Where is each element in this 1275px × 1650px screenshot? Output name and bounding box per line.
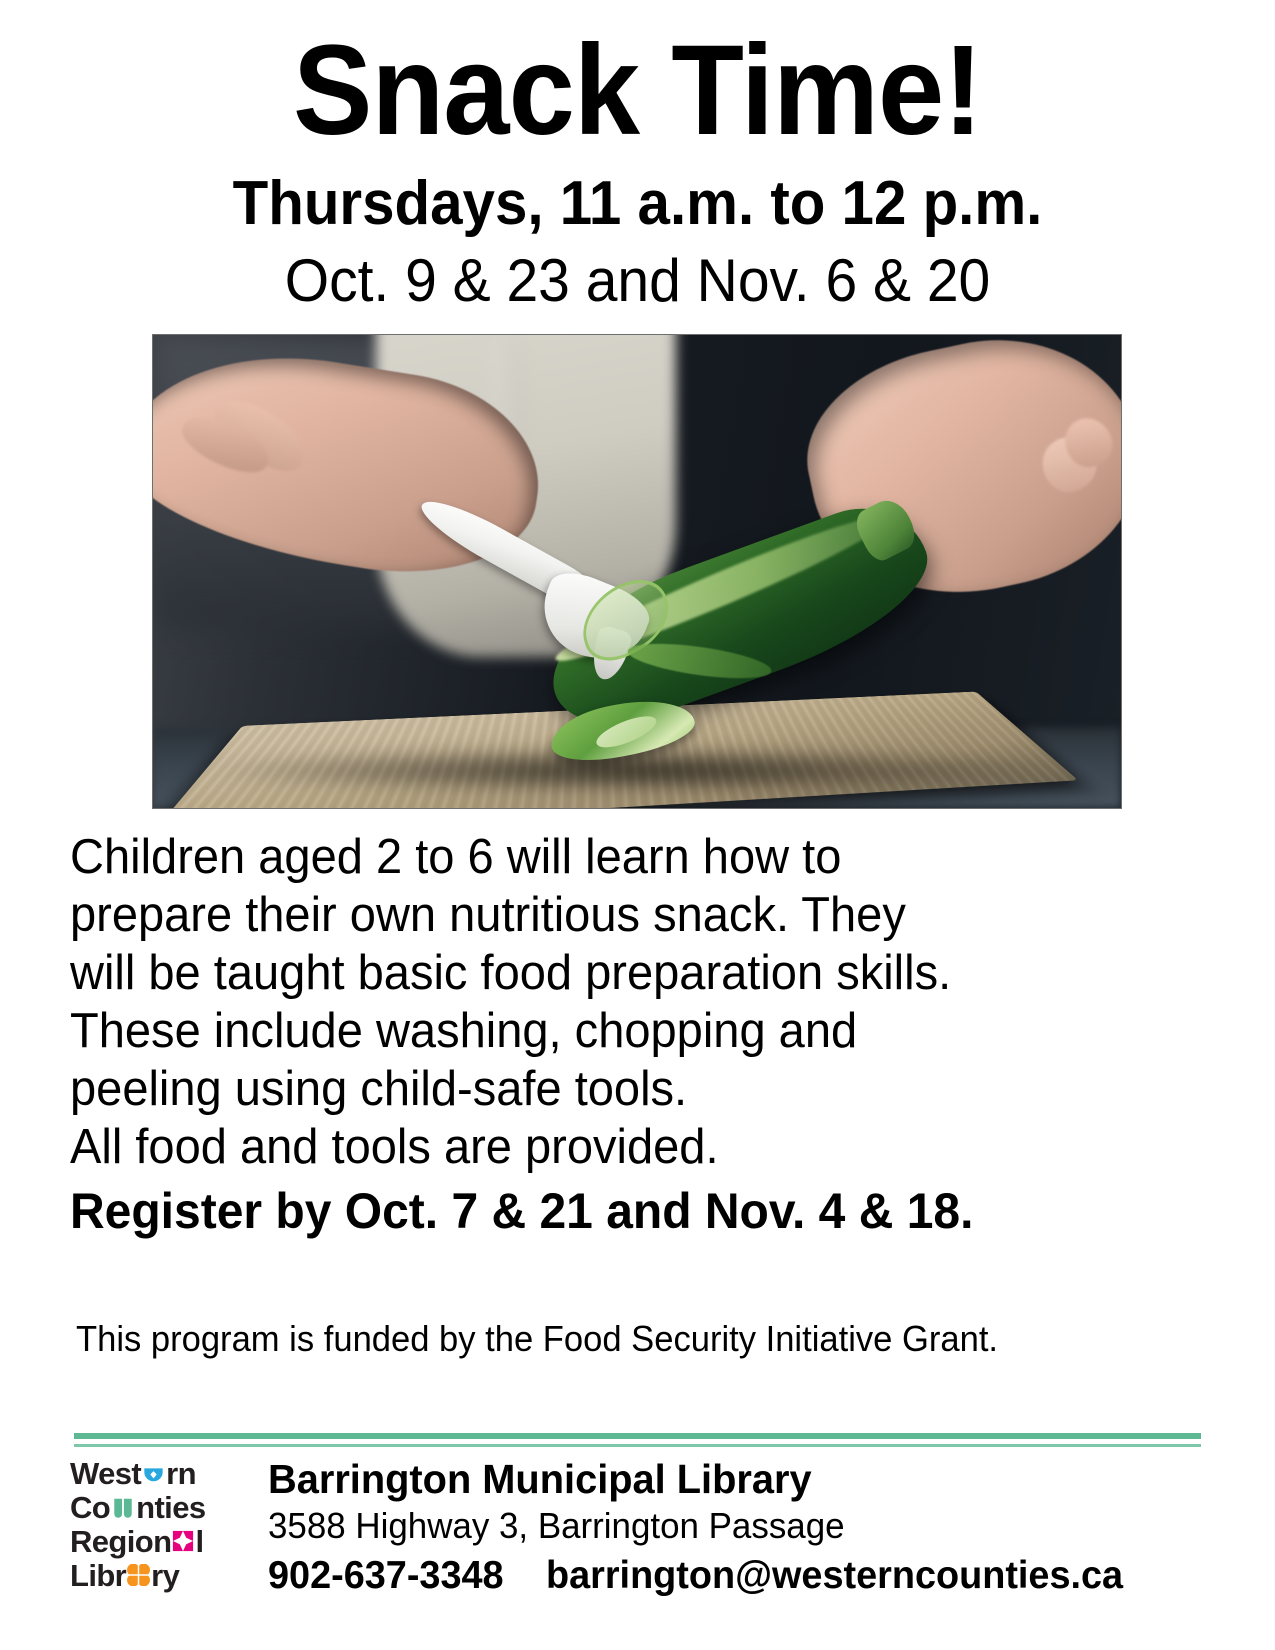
logo-line-library: Libr ry: [70, 1559, 240, 1593]
email-address[interactable]: barrington@westerncounties.ca: [546, 1554, 1123, 1597]
branch-address: 3588 Highway 3, Barrington Passage: [268, 1503, 1182, 1549]
wcrl-logo: West rn Co nties Region: [70, 1455, 240, 1593]
funding-note: This program is funded by the Food Secur…: [76, 1318, 998, 1360]
logo-text-libr: Libr: [70, 1559, 126, 1593]
program-description: Children aged 2 to 6 will learn how to p…: [70, 828, 1200, 1240]
logo-line-counties: Co nties: [70, 1491, 240, 1525]
register-deadline: Register by Oct. 7 & 21 and Nov. 4 & 18.: [70, 1176, 1155, 1240]
schedule-dates: Oct. 9 & 23 and Nov. 6 & 20: [32, 240, 1243, 317]
logo-text-nties: nties: [136, 1491, 205, 1525]
logo-text-co: Co: [70, 1491, 110, 1525]
schedule-time: Thursdays, 11 a.m. to 12 p.m.: [38, 157, 1237, 240]
footer-divider-thin: [74, 1444, 1201, 1447]
description-line: Children aged 2 to 6 will learn how to: [70, 828, 1155, 886]
logo-line-regional: Region l: [70, 1525, 240, 1559]
logo-text-rn: rn: [166, 1457, 196, 1491]
description-line: All food and tools are provided.: [70, 1118, 1155, 1176]
diamond-square-icon: [172, 1530, 194, 1552]
poster-header: Snack Time! Thursdays, 11 a.m. to 12 p.m…: [0, 0, 1275, 317]
logo-line-western: West rn: [70, 1457, 240, 1491]
branch-name: Barrington Municipal Library: [268, 1455, 1182, 1503]
description-line: These include washing, chopping and: [70, 1002, 1155, 1060]
description-line: peeling using child-safe tools.: [70, 1060, 1155, 1118]
photo-canvas: [153, 335, 1121, 808]
logo-text-ry: ry: [151, 1559, 179, 1593]
bowl-icon: [142, 1462, 165, 1484]
branch-contact-line: 902-637-3348 barrington@westerncounties.…: [268, 1549, 1182, 1601]
footer-divider-thick: [74, 1433, 1201, 1439]
program-photo: [152, 334, 1122, 809]
contact-block: Barrington Municipal Library 3588 Highwa…: [240, 1455, 1210, 1601]
four-petal-icon: [127, 1564, 150, 1586]
phone-number[interactable]: 902-637-3348: [268, 1554, 504, 1597]
logo-text-west: West: [70, 1457, 141, 1491]
peel-on-board-inner: [592, 710, 659, 753]
description-line: prepare their own nutritious snack. They: [70, 886, 1155, 944]
cutting-board-shadow: [192, 747, 1083, 794]
description-line: will be taught basic food preparation sk…: [70, 944, 1155, 1002]
leaf-pair-icon: [111, 1496, 135, 1518]
logo-text-region: Region: [70, 1525, 171, 1559]
logo-text-l: l: [195, 1525, 203, 1559]
footer: West rn Co nties Region: [70, 1455, 1210, 1601]
page-title: Snack Time!: [45, 26, 1231, 157]
